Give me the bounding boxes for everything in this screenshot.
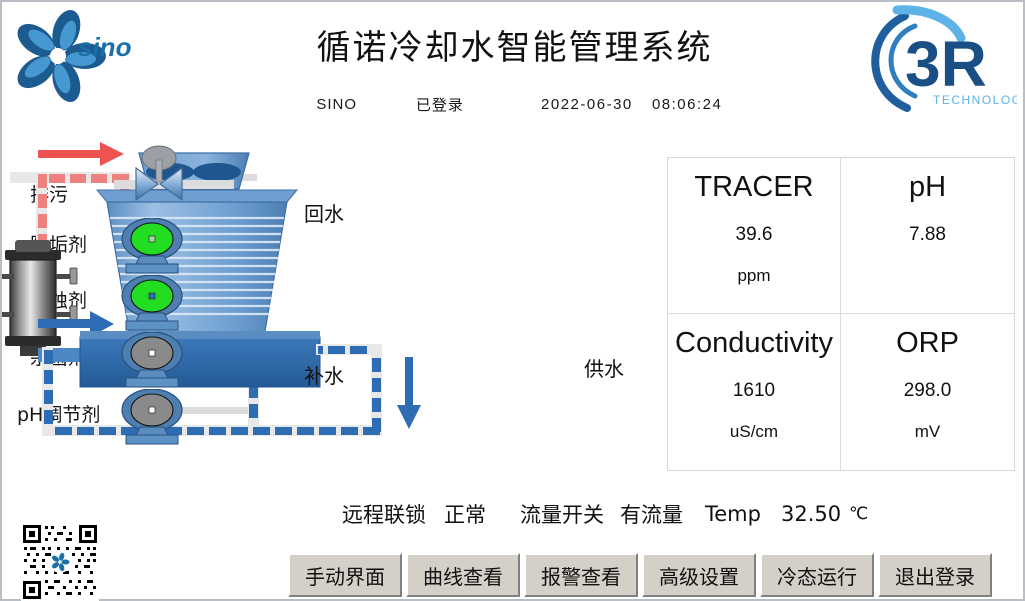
metric-name: pH xyxy=(909,172,946,204)
process-diagram xyxy=(2,122,672,492)
flow-switch-label: 流量开关 xyxy=(520,499,604,529)
qr-code xyxy=(6,523,114,601)
supply-flow-arrow xyxy=(397,357,421,429)
flow-switch-value: 有流量 xyxy=(620,499,683,529)
logout-button[interactable]: 退出登录 xyxy=(878,553,992,597)
login-status: 已登录 xyxy=(416,94,464,115)
system-date: 2022-06-30 xyxy=(541,96,633,113)
pump-biocide[interactable] xyxy=(114,332,190,388)
status-strip: 远程联锁 正常 流量开关 有流量 Temp 32.50 ℃ xyxy=(342,497,1022,531)
metric-card-conductivity: Conductivity 1610 uS/cm xyxy=(668,314,841,470)
bottom-button-bar: 手动界面 曲线查看 报警查看 高级设置 冷态运行 退出登录 xyxy=(288,553,992,597)
pump-corrosion-inhibitor[interactable] xyxy=(114,275,190,331)
return-flow-arrow xyxy=(38,142,124,166)
metric-name: Conductivity xyxy=(675,328,833,360)
interlock-value: 正常 xyxy=(444,499,486,529)
blowdown-valve-icon[interactable] xyxy=(114,142,234,212)
heat-exchanger xyxy=(2,240,77,356)
cold-run-button[interactable]: 冷态运行 xyxy=(760,553,874,597)
metric-name: TRACER xyxy=(694,172,813,204)
alarm-view-button[interactable]: 报警查看 xyxy=(524,553,638,597)
supply-water-label: 供水 xyxy=(584,353,624,382)
pump-antiscalant[interactable] xyxy=(114,218,190,274)
trend-view-button[interactable]: 曲线查看 xyxy=(406,553,520,597)
pump-ph-adjuster[interactable] xyxy=(114,389,190,445)
interlock-label: 远程联锁 xyxy=(342,499,426,529)
metric-card-orp: ORP 298.0 mV xyxy=(841,314,1014,470)
metric-value: 7.88 xyxy=(909,224,946,246)
makeup-water-label: 补水 xyxy=(304,360,344,389)
page-title: 循诺冷却水智能管理系统 xyxy=(2,20,1025,69)
metric-value: 39.6 xyxy=(736,224,773,246)
return-water-label: 回水 xyxy=(304,198,344,227)
metric-value: 1610 xyxy=(733,380,775,402)
temperature-label: Temp xyxy=(705,502,761,526)
metric-name: ORP xyxy=(896,328,959,360)
measurements-panel: TRACER 39.6 ppm pH 7.88 Conductivity 161… xyxy=(667,157,1015,471)
manual-interface-button[interactable]: 手动界面 xyxy=(288,553,402,597)
temperature-unit: ℃ xyxy=(849,504,868,524)
user-name: SINO xyxy=(307,96,367,113)
advanced-settings-button[interactable]: 高级设置 xyxy=(642,553,756,597)
metric-card-ph: pH 7.88 xyxy=(841,158,1014,314)
metric-card-tracer: TRACER 39.6 ppm xyxy=(668,158,841,314)
metric-unit: ppm xyxy=(737,266,770,286)
hmi-screen: sino 3R TECHNOLOGY 循诺冷却水智能管理系统 SINO 已登录 … xyxy=(0,0,1025,601)
temperature-value: 32.50 xyxy=(781,502,841,526)
metric-value: 298.0 xyxy=(904,380,952,402)
header-info-row: SINO 已登录 2022-06-30 08:06:24 xyxy=(2,94,1025,115)
metric-unit: mV xyxy=(915,422,941,442)
metric-unit: uS/cm xyxy=(730,422,778,442)
system-time: 08:06:24 xyxy=(652,96,722,113)
